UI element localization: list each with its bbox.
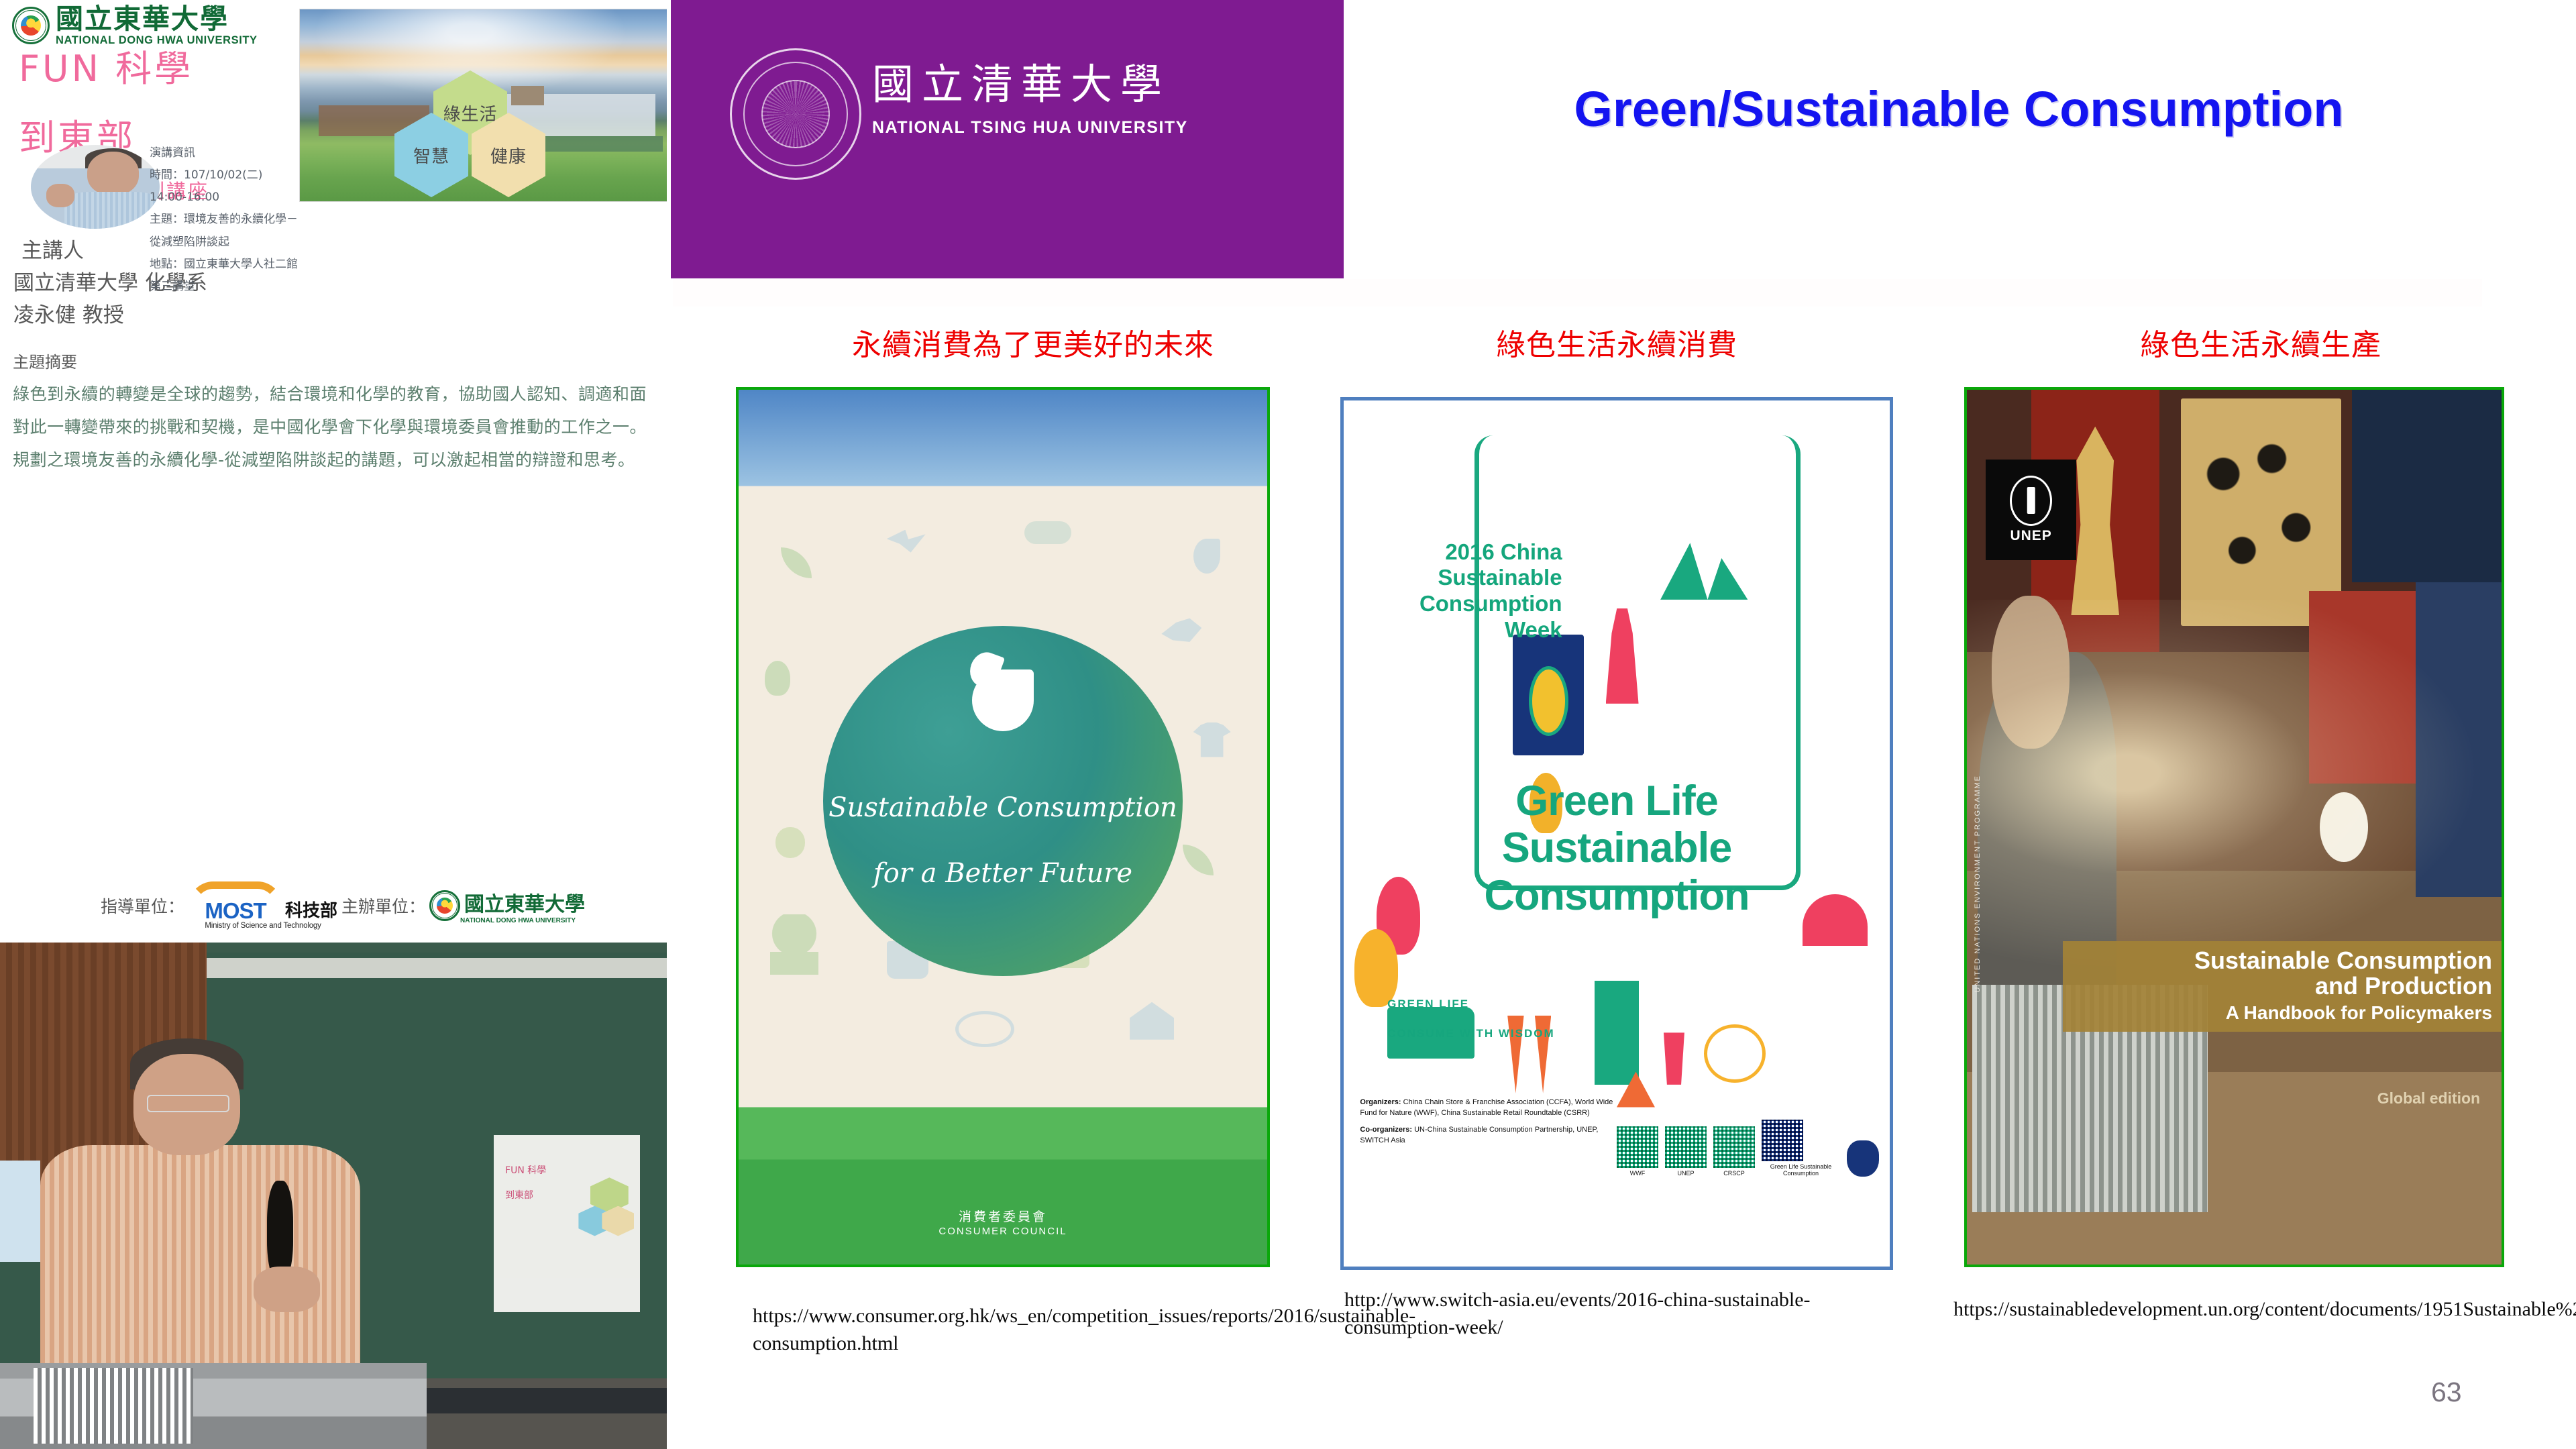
chalkboard-rail: [207, 958, 667, 978]
nthu-seal-icon: [730, 48, 861, 180]
publisher-name-en: CONSUMER COUNCIL: [739, 1226, 1267, 1238]
caption-image-2: 綠色生活永續消費: [1382, 321, 1851, 364]
apple-icon: [775, 827, 805, 858]
presenter-glasses: [147, 1095, 229, 1113]
washing-machine-icon: [1513, 635, 1584, 756]
poster-title-line2: Sustainable: [1344, 824, 1890, 872]
lecture-topic-line2: 從減塑陷阱談起: [150, 231, 378, 254]
cloud-icon: [1024, 521, 1071, 544]
most-name-en: Ministry of Science and Technology: [205, 922, 321, 930]
unep-scp-handbook-cover[interactable]: UNEP UNITED NATIONS ENVIRONMENT PROGRAMM…: [1964, 387, 2504, 1267]
unep-spine-text: UNITED NATIONS ENVIRONMENT PROGRAMME: [1974, 775, 1982, 993]
ndhu-name-cn: 國立東華大學: [56, 5, 258, 33]
unep-emblem-icon: [2010, 476, 2052, 526]
lecture-hall-photo: FUN 科學 到東部: [0, 943, 667, 1449]
poster-tagline: GREEN LIFE CONSUME WITH WISDOM: [1387, 989, 1555, 1049]
most-wordmark: MOST: [205, 900, 266, 922]
coorganizers-label: Co-organizers:: [1360, 1126, 1412, 1134]
publisher-name-cn: 消費者委員會: [739, 1210, 1267, 1226]
tagline-line2: CONSUME WITH WISDOM: [1387, 1019, 1555, 1049]
wall-notice-blue: [0, 1161, 40, 1262]
unep-logo: UNEP: [1986, 460, 2076, 560]
bicycle-icon: [955, 1011, 1014, 1047]
infinity-loop-icon: [1704, 1024, 1765, 1083]
cover-title-band: Sustainable Consumption and Production A…: [2063, 941, 2502, 1032]
presenter-hand: [254, 1267, 320, 1312]
qr-label-wwf: WWF: [1617, 1170, 1658, 1177]
qr-code-crscp[interactable]: [1713, 1126, 1755, 1168]
organizers-label: Organizers:: [1360, 1098, 1401, 1106]
textile-dark-panel: [2352, 390, 2502, 582]
title-underline-strip: [673, 279, 2482, 307]
most-name-cn: 科技部: [285, 897, 337, 922]
qr-label-green-life: Green Life Sustainable Consumption: [1762, 1163, 1840, 1177]
campus-tower: [511, 86, 545, 105]
handbook-title-line1: Sustainable Consumption: [2072, 948, 2492, 974]
watercolor-sea: [739, 390, 1267, 486]
lecture-venue-line2: 第三講堂: [150, 276, 378, 298]
ndhu-seal-icon-small: [429, 890, 460, 921]
series-title-line1: FUN 科學: [13, 39, 295, 92]
abstract-body: 綠色到永續的轉變是全球的趨勢，結合環境和化學的教育，協助國人認知、調適和面對此一…: [13, 378, 647, 476]
lecture-info-heading: 演講資訊: [150, 142, 378, 164]
cover-title-line2: for a Better Future: [739, 858, 1267, 889]
footprint-icon: [765, 661, 790, 696]
poster-title-line3: Consumption: [1344, 872, 1890, 920]
nthu-header-banner: 國立清華大學 NATIONAL TSING HUA UNIVERSITY: [671, 0, 1344, 278]
tagline-line1: GREEN LIFE: [1387, 989, 1555, 1019]
wall-poster-line2: 到東部: [505, 1188, 533, 1201]
speaker-head: [87, 152, 139, 195]
qr-code-row: WWF UNEP CRSCP Green Life Sustainable Co…: [1617, 1120, 1879, 1177]
handbook-title-line2: and Production: [2072, 973, 2492, 1000]
china-sustainable-consumption-week-poster[interactable]: 2016 China Sustainable Consumption Week …: [1340, 397, 1893, 1270]
consumer-council-cover[interactable]: Sustainable Consumption for a Better Fut…: [736, 387, 1270, 1267]
host-unit-label: 主辦單位：: [341, 894, 425, 918]
qr-code-green-life[interactable]: [1762, 1120, 1803, 1161]
wall-event-poster: FUN 科學 到東部: [494, 1135, 641, 1312]
qr-label-unep: UNEP: [1665, 1170, 1707, 1177]
slide-title: Green/Sustainable Consumption: [1348, 80, 2569, 138]
speaker-portrait: [31, 145, 160, 229]
qr-code-unep[interactable]: [1665, 1126, 1707, 1168]
guidance-unit-label: 指導單位：: [101, 894, 184, 918]
poster-main-title: Green Life Sustainable Consumption: [1344, 777, 1890, 920]
sponsors-strip: 指導單位： MOST 科技部 Ministry of Science and T…: [0, 869, 667, 943]
speaker-name: 凌永健 教授: [13, 299, 342, 331]
poster-organizers-block: Organizers: China Chain Store & Franchis…: [1360, 1097, 1622, 1146]
event-poster-panel: 國立東華大學 NATIONAL DONG HWA UNIVERSITY 綠生活 …: [0, 0, 667, 1449]
speaker-shirt: [64, 192, 160, 229]
poster-title-line1: Green Life: [1344, 777, 1890, 825]
podium-ridges: [34, 1368, 194, 1444]
hexagon-label-green: 綠生活: [443, 101, 497, 125]
hexagon-label-beige: 健康: [490, 143, 527, 168]
abstract-heading: 主題摘要: [13, 349, 77, 372]
unep-label: UNEP: [2010, 528, 2051, 544]
speaker-hand: [46, 184, 74, 207]
handbook-edition: Global edition: [2377, 1089, 2480, 1108]
tree-icon: [770, 914, 818, 975]
caption-image-3: 綠色生活永續生產: [2006, 321, 2516, 364]
water-drop-icon: [1193, 539, 1220, 574]
lecture-time-label: 時間：107/10/02(二): [150, 164, 378, 186]
source-url-3[interactable]: https://sustainabledevelopment.un.org/co…: [1953, 1296, 2510, 1324]
qr-label-crscp: CRSCP: [1713, 1170, 1755, 1177]
light-streak-overlay: [1967, 600, 2502, 985]
lecture-venue-line1: 地點：國立東華大學人社二館: [150, 254, 378, 276]
hexagon-label-blue: 智慧: [413, 143, 449, 168]
wall-poster-line1: FUN 科學: [505, 1163, 546, 1177]
host-name-cn: 國立東華大學: [464, 888, 585, 917]
qr-code-wwf[interactable]: [1617, 1126, 1658, 1168]
nthu-name-cn: 國立清華大學: [872, 62, 1188, 107]
page-number: 63: [2431, 1377, 2462, 1408]
handbook-subtitle: A Handbook for Policymakers: [2072, 1002, 2492, 1023]
nthu-name-block: 國立清華大學 NATIONAL TSING HUA UNIVERSITY: [872, 62, 1188, 138]
most-logo: MOST 科技部 Ministry of Science and Technol…: [189, 881, 337, 930]
ndhu-logo-small: 國立東華大學 NATIONAL DONG HWA UNIVERSITY: [429, 888, 585, 924]
lecture-topic-line1: 主題：環境友善的永續化學－: [150, 209, 378, 231]
consumer-council-logo: 消費者委員會 CONSUMER COUNCIL: [739, 1210, 1267, 1238]
panda-cart-icon: [1847, 1140, 1879, 1177]
host-name-en: NATIONAL DONG HWA UNIVERSITY: [460, 917, 585, 924]
poster-header-text: 2016 China Sustainable Consumption Week: [1377, 539, 1562, 644]
lecture-time-range: 14:00-16:00: [150, 186, 378, 209]
refrigerator-icon: [1595, 981, 1638, 1085]
source-url-1[interactable]: https://www.consumer.org.hk/ws_en/compet…: [753, 1303, 1316, 1357]
plant-pot-icon: [1660, 1032, 1688, 1084]
source-url-2[interactable]: http://www.switch-asia.eu/events/2016-ch…: [1344, 1287, 1874, 1341]
lecture-info-block: 演講資訊 時間：107/10/02(二) 14:00-16:00 主題：環境友善…: [150, 142, 378, 298]
caption-image-1: 永續消費為了更美好的未來: [735, 321, 1332, 364]
cover-title-line1: Sustainable Consumption: [739, 792, 1267, 823]
nthu-name-en: NATIONAL TSING HUA UNIVERSITY: [872, 118, 1188, 138]
